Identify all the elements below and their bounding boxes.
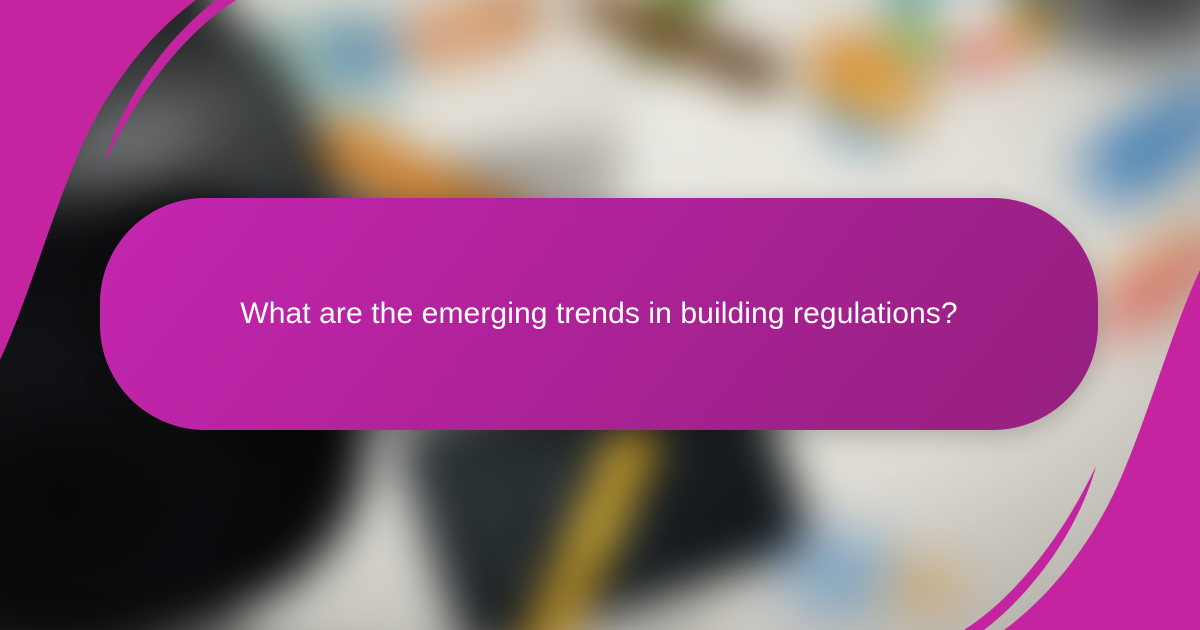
orange-highlight-bottom bbox=[860, 543, 987, 630]
question-card: What are the emerging trends in building… bbox=[100, 198, 1098, 430]
card-question-text: What are the emerging trends in building… bbox=[229, 288, 969, 340]
social-card-canvas: What are the emerging trends in building… bbox=[0, 0, 1200, 630]
